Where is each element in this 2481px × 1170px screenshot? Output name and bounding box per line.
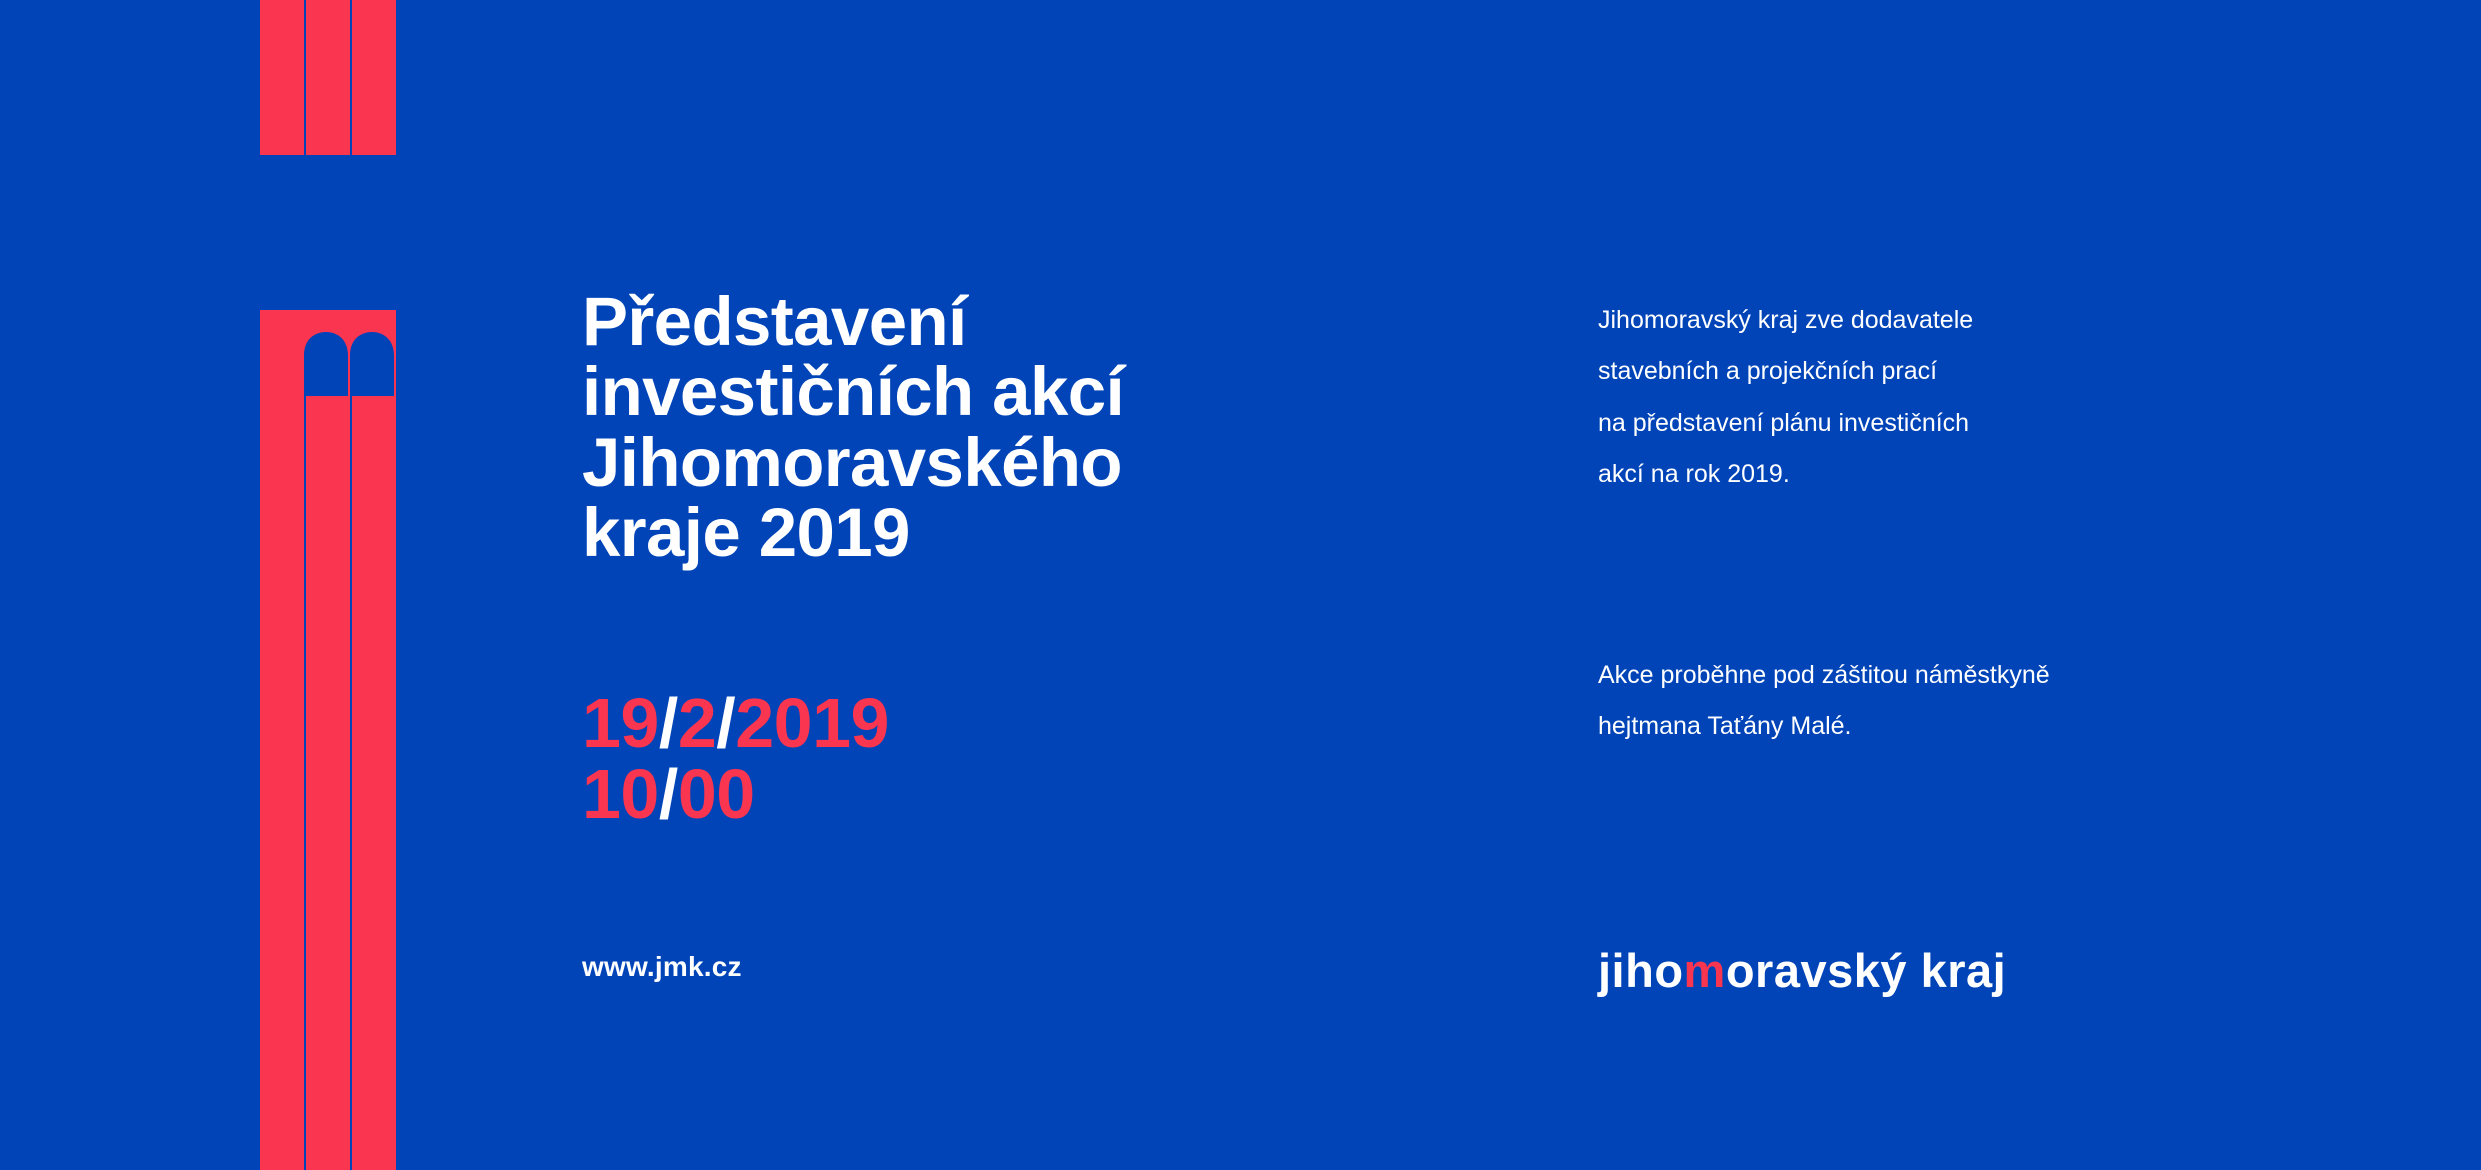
event-date-day: 19 <box>582 684 659 762</box>
logo-accent-letter: m <box>1684 944 1726 997</box>
event-date-year: 2019 <box>735 684 889 762</box>
left-content-column: Představení investičních akcí Jihomoravs… <box>582 0 1522 1170</box>
event-time-hour: 10 <box>582 755 659 833</box>
event-datetime: 19/2/2019 10/00 <box>582 688 889 831</box>
event-date: 19/2/2019 <box>582 688 889 759</box>
logo-prefix: jiho <box>1598 944 1684 997</box>
date-separator-2: / <box>716 684 735 762</box>
patronage-paragraph: Akce proběhne pod záštitou náměstkyně he… <box>1598 650 2338 753</box>
patronage-line-1: Akce proběhne pod záštitou náměstkyně <box>1598 650 2338 701</box>
headline-line-3: Jihomoravského <box>582 428 1482 498</box>
headline-line-1: Představení <box>582 287 1482 357</box>
invitation-line-2: stavebních a projekčních prací <box>1598 346 2318 397</box>
invitation-line-4: akcí na rok 2019. <box>1598 449 2318 500</box>
page-title: Představení investičních akcí Jihomoravs… <box>582 287 1482 569</box>
headline-line-2: investičních akcí <box>582 357 1482 427</box>
event-time: 10/00 <box>582 759 889 830</box>
time-separator: / <box>659 755 678 833</box>
patronage-line-2: hejtmana Taťány Malé. <box>1598 701 2338 752</box>
jihomoravsky-kraj-logo: jihomoravský kraj <box>1598 943 2006 998</box>
website-url[interactable]: www.jmk.cz <box>582 951 742 983</box>
logo-suffix: oravský kraj <box>1726 944 2006 997</box>
date-separator-1: / <box>659 684 678 762</box>
invitation-line-3: na představení plánu investičních <box>1598 398 2318 449</box>
invitation-line-1: Jihomoravský kraj zve dodavatele <box>1598 295 2318 346</box>
headline-line-4: kraje 2019 <box>582 498 1482 568</box>
jmk-m-monogram-icon <box>258 0 398 1170</box>
event-time-minute: 00 <box>678 755 755 833</box>
right-content-column: Jihomoravský kraj zve dodavatele stavebn… <box>1598 0 2358 1170</box>
event-date-month: 2 <box>678 684 716 762</box>
invitation-paragraph: Jihomoravský kraj zve dodavatele stavebn… <box>1598 295 2318 500</box>
event-poster: Představení investičních akcí Jihomoravs… <box>0 0 2481 1170</box>
